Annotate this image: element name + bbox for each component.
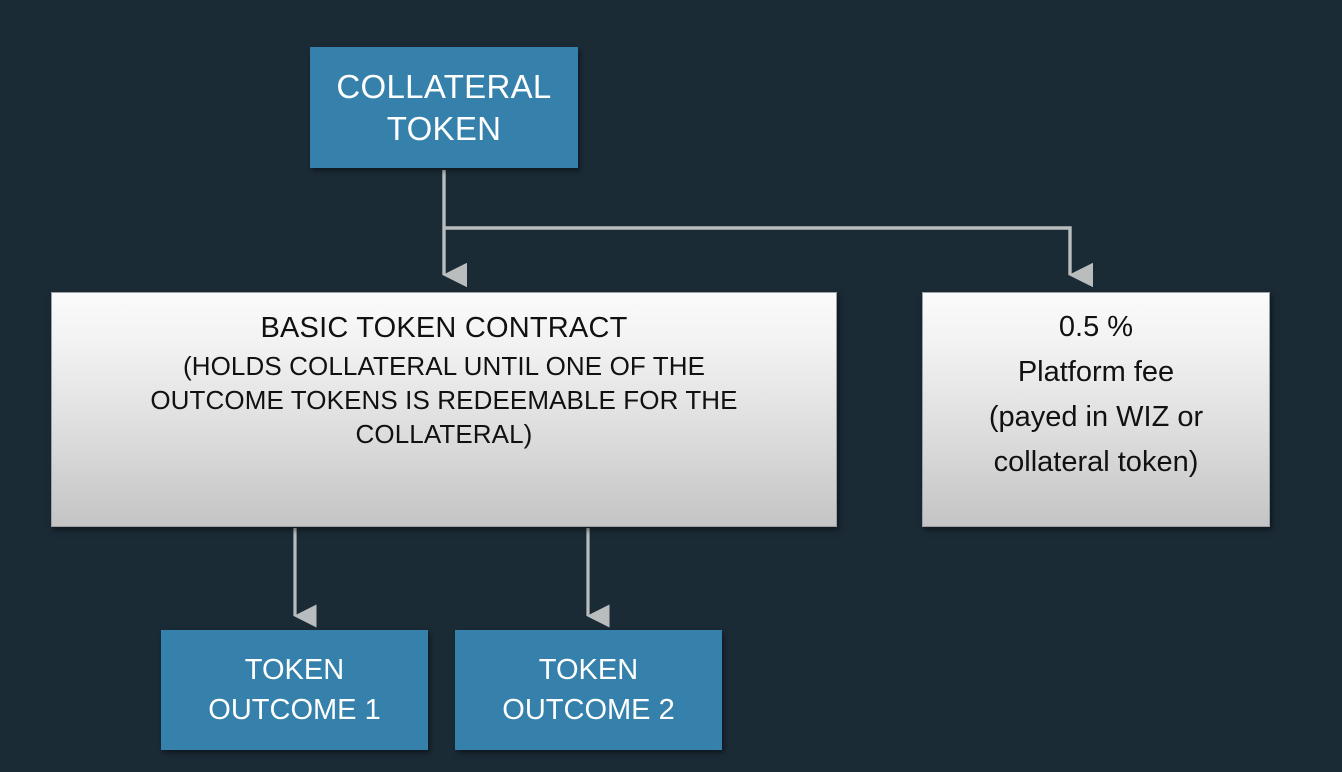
collateral-token-line-1: COLLATERAL <box>336 66 551 108</box>
basic-token-contract-line-2: OUTCOME TOKENS IS REDEEMABLE FOR THE <box>150 383 737 417</box>
node-token-outcome-1: TOKEN OUTCOME 1 <box>161 630 428 750</box>
token-outcome-1-line-2: OUTCOME 1 <box>208 690 380 730</box>
node-platform-fee: 0.5 % Platform fee (payed in WIZ or coll… <box>922 292 1270 527</box>
platform-fee-percentage: 0.5 % <box>1059 305 1133 350</box>
platform-fee-note-line-2: collateral token) <box>994 440 1199 485</box>
platform-fee-note-line-1: (payed in WIZ or <box>989 395 1203 440</box>
edge-collateral-to-platform-fee <box>444 228 1070 275</box>
token-outcome-1-line-1: TOKEN <box>245 650 344 690</box>
basic-token-contract-line-1: (HOLDS COLLATERAL UNTIL ONE OF THE <box>183 349 705 383</box>
basic-token-contract-title: BASIC TOKEN CONTRACT <box>260 309 627 347</box>
diagram-canvas: COLLATERAL TOKEN BASIC TOKEN CONTRACT (H… <box>0 0 1342 772</box>
platform-fee-label: Platform fee <box>1018 350 1174 395</box>
collateral-token-line-2: TOKEN <box>387 108 502 150</box>
node-collateral-token: COLLATERAL TOKEN <box>310 47 578 168</box>
node-token-outcome-2: TOKEN OUTCOME 2 <box>455 630 722 750</box>
basic-token-contract-line-3: COLLATERAL) <box>356 417 533 451</box>
token-outcome-2-line-1: TOKEN <box>539 650 638 690</box>
node-basic-token-contract: BASIC TOKEN CONTRACT (HOLDS COLLATERAL U… <box>51 292 837 527</box>
token-outcome-2-line-2: OUTCOME 2 <box>502 690 674 730</box>
